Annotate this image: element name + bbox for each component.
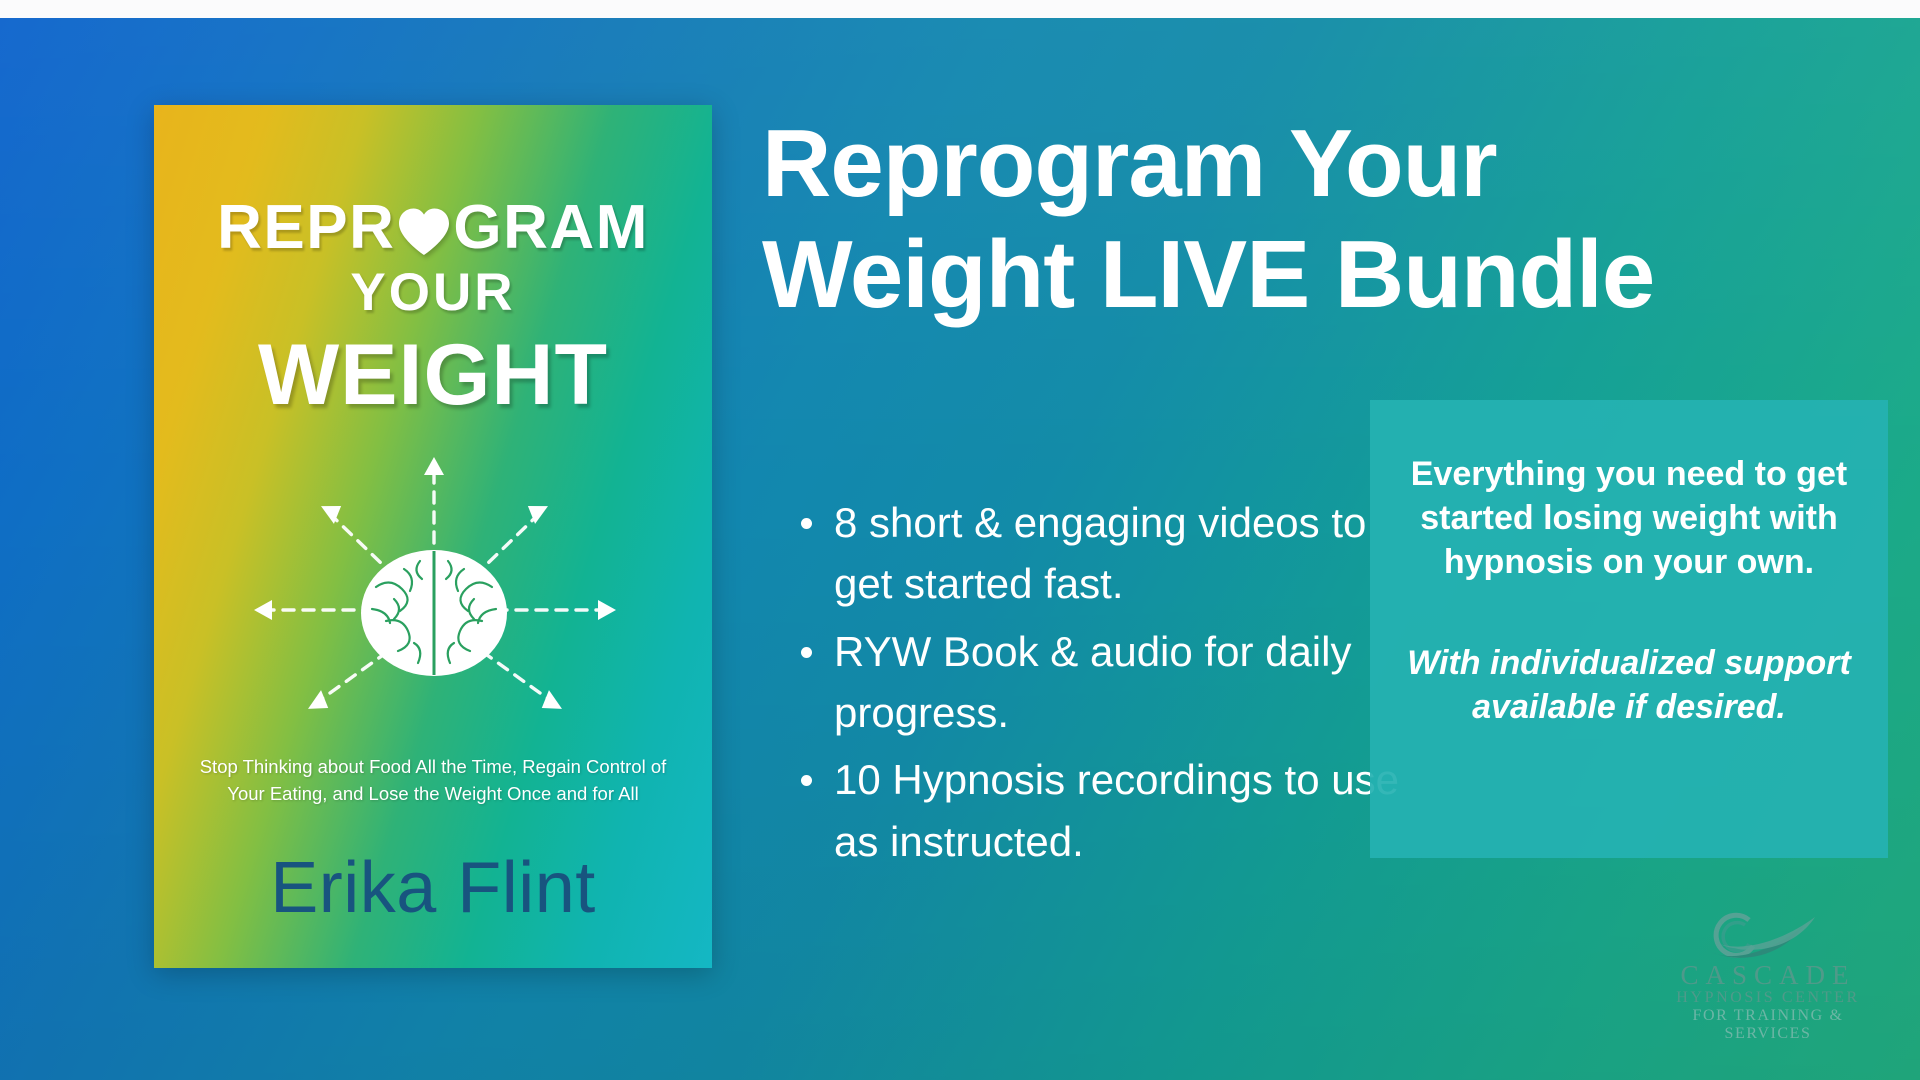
feature-bullet-list: 8 short & engaging videos to get started… xyxy=(796,492,1414,878)
callout-box: Everything you need to get started losin… xyxy=(1370,400,1888,858)
book-title-line-2: YOUR xyxy=(154,259,712,327)
book-cover-author: Erika Flint xyxy=(154,847,712,929)
promotional-banner: REPR GRAM YOUR WEIGHT xyxy=(0,0,1920,1080)
book-title-line-1-pre: REPR xyxy=(217,197,395,259)
cascade-logo-watermark: CASCADE HYPNOSIS CENTER FOR TRAINING & S… xyxy=(1648,912,1888,1034)
book-cover-subtitle: Stop Thinking about Food All the Time, R… xyxy=(182,753,684,808)
page-title: Reprogram Your Weight LIVE Bundle xyxy=(762,108,1702,331)
callout-primary-text: Everything you need to get started losin… xyxy=(1406,452,1852,585)
book-cover-image: REPR GRAM YOUR WEIGHT xyxy=(154,105,712,968)
callout-secondary-text: With individualized support available if… xyxy=(1406,641,1852,729)
brain-with-arrows-illustration xyxy=(204,435,664,725)
list-item: 10 Hypnosis recordings to use as instruc… xyxy=(834,749,1414,872)
logo-subtitle-line-2: FOR TRAINING & SERVICES xyxy=(1648,1007,1888,1043)
logo-subtitle-line-1: HYPNOSIS CENTER xyxy=(1648,989,1888,1007)
book-title-line-1: REPR GRAM xyxy=(154,197,712,259)
book-title-line-1-post: GRAM xyxy=(453,197,648,259)
heart-icon xyxy=(396,206,452,258)
logo-name: CASCADE xyxy=(1648,961,1888,989)
book-cover-title: REPR GRAM YOUR WEIGHT xyxy=(154,197,712,423)
list-item: 8 short & engaging videos to get started… xyxy=(834,492,1414,615)
list-item: RYW Book & audio for daily progress. xyxy=(834,621,1414,744)
wave-swoosh-icon xyxy=(1693,912,1843,960)
book-title-line-3: WEIGHT xyxy=(154,327,712,423)
